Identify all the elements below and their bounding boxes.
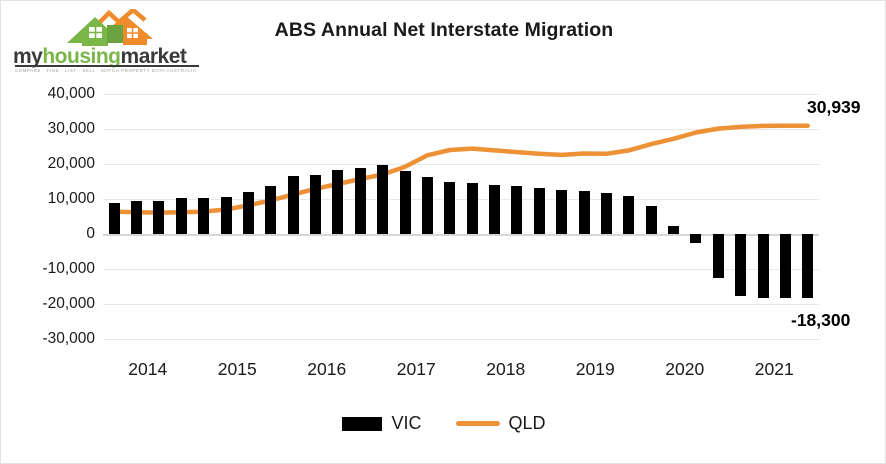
bar-vic bbox=[623, 196, 634, 234]
bar-vic bbox=[444, 182, 455, 235]
bar-vic bbox=[579, 191, 590, 234]
bar-vic bbox=[601, 193, 612, 234]
plot-area bbox=[103, 94, 819, 339]
bar-vic bbox=[422, 177, 433, 234]
legend-label-vic: VIC bbox=[391, 413, 421, 434]
bar-vic bbox=[690, 234, 701, 243]
bar-vic bbox=[377, 165, 388, 234]
y-axis-tick-label: 40,000 bbox=[25, 85, 95, 103]
bar-vic bbox=[713, 234, 724, 278]
vic-end-value-label: -18,300 bbox=[791, 310, 850, 331]
x-axis-tick-label: 2015 bbox=[197, 359, 277, 380]
bar-vic bbox=[467, 183, 478, 234]
bar-vic bbox=[735, 234, 746, 296]
y-axis-tick-label: -30,000 bbox=[25, 330, 95, 348]
bar-vic bbox=[668, 226, 679, 234]
bar-vic bbox=[109, 203, 120, 234]
chart-title: ABS Annual Net Interstate Migration bbox=[1, 19, 886, 42]
x-axis-tick-label: 2021 bbox=[734, 359, 814, 380]
bar-vic bbox=[332, 170, 343, 234]
brand-tagline: COMPARE · FIND · LIST · SELL · MATCH PRO… bbox=[15, 68, 203, 75]
bar-vic bbox=[534, 188, 545, 234]
bar-vic bbox=[400, 171, 411, 234]
brand-wordmark: myhousingmarket bbox=[13, 47, 203, 67]
bar-vic bbox=[176, 198, 187, 234]
legend-swatch-vic-icon bbox=[342, 417, 382, 431]
x-axis-tick-label: 2019 bbox=[555, 359, 635, 380]
x-axis-tick-label: 2020 bbox=[645, 359, 725, 380]
bar-vic bbox=[243, 192, 254, 234]
bar-vic bbox=[153, 201, 164, 234]
y-axis-tick-label: 30,000 bbox=[25, 120, 95, 138]
x-axis-tick-label: 2018 bbox=[466, 359, 546, 380]
bar-vic bbox=[265, 186, 276, 234]
bar-vic bbox=[198, 198, 209, 234]
bar-vic bbox=[646, 206, 657, 234]
bar-vic bbox=[489, 185, 500, 234]
x-axis-tick-label: 2016 bbox=[287, 359, 367, 380]
legend-item-vic[interactable]: VIC bbox=[342, 413, 421, 434]
x-axis: 20142015201620172018201920202021 bbox=[103, 359, 819, 389]
x-axis-tick-label: 2017 bbox=[376, 359, 456, 380]
bar-vic bbox=[780, 234, 791, 298]
brand-underline bbox=[15, 65, 199, 67]
qld-end-value-label: 30,939 bbox=[807, 97, 861, 118]
bar-vic bbox=[221, 197, 232, 234]
y-axis-tick-label: 20,000 bbox=[25, 155, 95, 173]
bar-vic bbox=[556, 190, 567, 234]
bar-vic bbox=[511, 186, 522, 234]
y-axis-tick-label: -10,000 bbox=[25, 260, 95, 278]
legend-swatch-qld-icon bbox=[456, 421, 500, 426]
chart-screenshot: myhousingmarket COMPARE · FIND · LIST · … bbox=[0, 0, 886, 464]
legend-item-qld[interactable]: QLD bbox=[456, 413, 546, 434]
x-axis-tick-label: 2014 bbox=[108, 359, 188, 380]
chart-legend: VIC QLD bbox=[1, 413, 886, 434]
y-axis-tick-label: 0 bbox=[25, 225, 95, 243]
gridline bbox=[103, 339, 819, 340]
bar-vic bbox=[802, 234, 813, 298]
bar-vic bbox=[131, 201, 142, 234]
bar-vic bbox=[758, 234, 769, 298]
legend-label-qld: QLD bbox=[509, 413, 546, 434]
bar-vic bbox=[288, 176, 299, 234]
y-axis-tick-label: 10,000 bbox=[25, 190, 95, 208]
bar-vic bbox=[355, 168, 366, 234]
qld-line-series bbox=[103, 94, 819, 339]
y-axis-tick-label: -20,000 bbox=[25, 295, 95, 313]
bar-vic bbox=[310, 175, 321, 235]
